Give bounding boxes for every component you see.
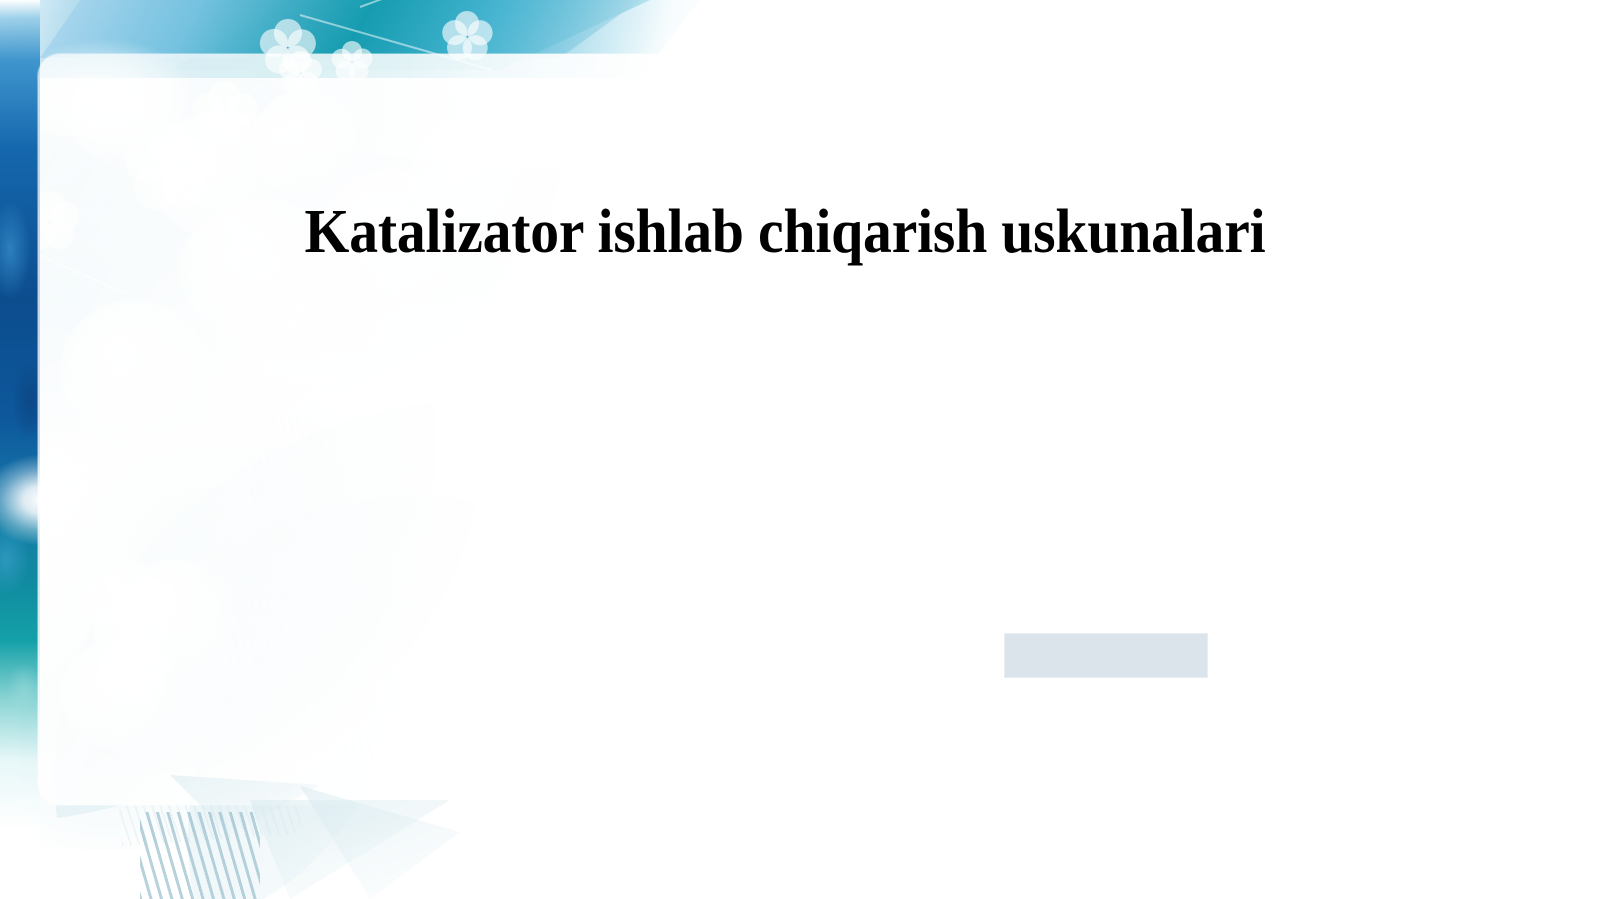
presentation-slide: Katalizator ishlab chiqarish uskunalari [0, 0, 1600, 899]
hatch-texture-bottom [140, 812, 260, 899]
left-color-band [0, 0, 40, 899]
empty-content-placeholder[interactable] [1004, 633, 1208, 678]
branch-line [360, 0, 502, 8]
left-band-texture [0, 0, 40, 899]
slide-title: Katalizator ishlab chiqarish uskunalari [222, 198, 1347, 266]
title-block: Katalizator ishlab chiqarish uskunalari [180, 198, 1390, 266]
top-watercolor-band-secondary [40, 0, 640, 58]
triangle-shape [250, 800, 450, 899]
content-panel [38, 54, 1553, 805]
